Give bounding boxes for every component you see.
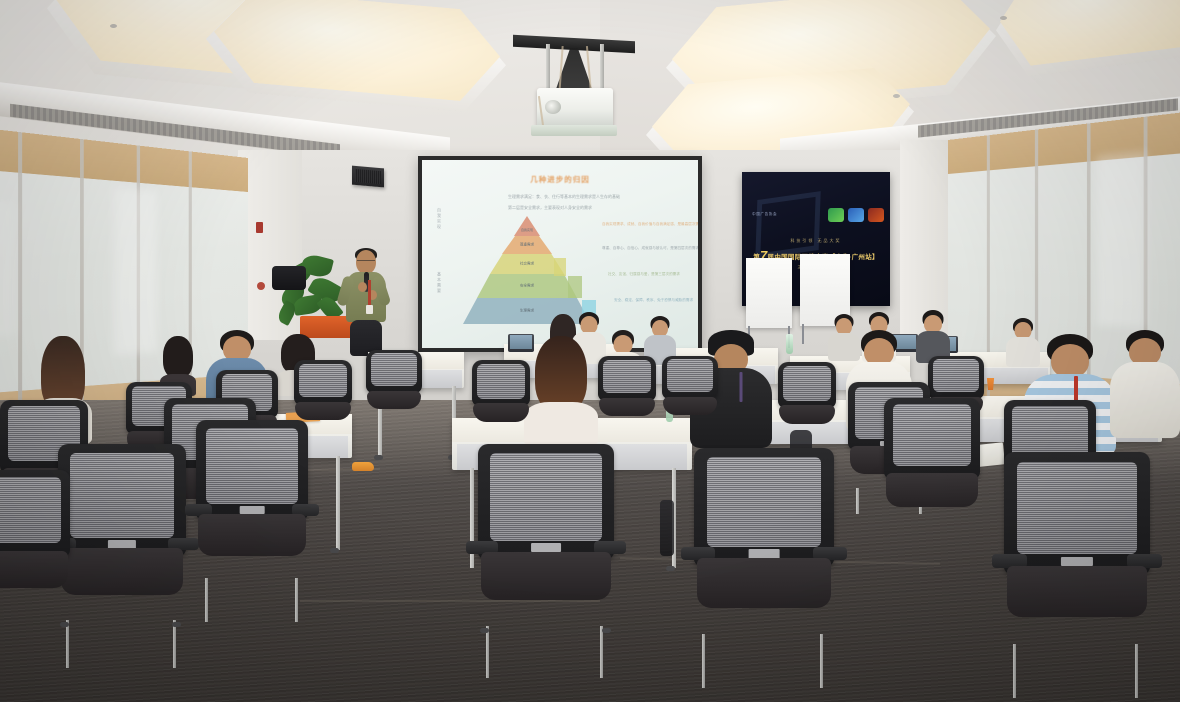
chair-mesh (783, 366, 831, 401)
chair-backrest (884, 398, 980, 479)
pyramid-connector-3 (554, 258, 566, 276)
presenter (338, 250, 394, 362)
chair-seat (0, 551, 68, 587)
attendee-torso (524, 402, 598, 446)
pyramid-tier-2-label: 尊重需求 (520, 243, 534, 248)
glass-reflection (0, 202, 15, 337)
chair-backrest (598, 356, 656, 401)
chair (472, 360, 530, 434)
slide-note-1: 自我实现需求、成就、自我价值与自我满足感，是最高层次需求 (602, 222, 698, 227)
pyramid-tier-5-label: 生理需求 (520, 309, 534, 314)
chair-leg (66, 620, 69, 668)
chair (694, 448, 834, 638)
chair-leg (1135, 644, 1138, 698)
pyramid-connector-4 (568, 276, 582, 298)
chair-backrest (0, 470, 70, 557)
slide-note-2: 尊重、自尊心、自信心、成就感与被认可，是第四层次的需求 (602, 246, 698, 251)
chair-seat (779, 405, 835, 424)
fire-alarm-icon (256, 222, 263, 233)
chair-seat (61, 548, 184, 595)
attendee-torso (1110, 362, 1180, 438)
chair-leg (205, 578, 208, 622)
presenter-hand-left (358, 282, 367, 292)
attendee-woman-ponytail (524, 336, 598, 446)
speaker-grill (355, 169, 381, 184)
pyramid-tier-4-label: 安全需求 (520, 284, 534, 289)
chair (598, 356, 656, 428)
lanyard (368, 280, 371, 306)
projector-drop-rod (546, 44, 550, 94)
chair-leg (1013, 644, 1016, 698)
slide-header-line: 第二层是安全需求，主要表现对人身安全的需求 (508, 205, 688, 211)
eyeglasses-icon (357, 260, 375, 264)
chair (0, 470, 70, 610)
chair-seat (481, 552, 612, 600)
chair (196, 420, 308, 582)
flipchart-leg (802, 324, 804, 344)
slide-title: 几种进步的归因 (422, 174, 698, 185)
projector-base-plate (531, 125, 617, 136)
glass-reflection (1096, 152, 1146, 328)
chair-leg (295, 578, 298, 622)
orange-sneaker (352, 462, 374, 471)
pyramid-tier-2: 尊重需求 (502, 236, 552, 254)
chair-mesh (933, 359, 979, 392)
slide-header-lines: 生理需求满足：食、衣、住行等基本的生理需求是人生存的基础 第二层是安全需求，主要… (508, 194, 688, 216)
sprinkler-head (110, 24, 117, 28)
name-badge (366, 305, 373, 314)
chair (884, 398, 980, 528)
chair (662, 356, 718, 426)
chair-caster (172, 622, 181, 627)
desk-caster (666, 566, 675, 571)
chair-backrest (58, 444, 186, 556)
chair-seat (697, 558, 831, 607)
chair-mesh (707, 457, 822, 547)
pyramid-tier-4: 安全需求 (477, 274, 577, 298)
chair-seat (663, 397, 717, 415)
sponsor-logo-green-icon (828, 208, 844, 222)
training-room-photo: 几种进步的归因 自我实现 基本需要 生理需求满足：食、衣、住行等基本的生理需求是… (0, 0, 1180, 702)
umbrella (660, 500, 674, 556)
chair (58, 444, 186, 624)
slide-axis-top-label: 自我实现 (436, 208, 442, 230)
glass-reflection (114, 187, 157, 354)
chair (478, 444, 614, 630)
chair-mesh (206, 428, 298, 504)
chair-mesh (893, 404, 972, 465)
desk-caster (374, 455, 383, 460)
attendee-hair (535, 336, 587, 412)
chair-backrest (928, 356, 984, 399)
chair-backrest (472, 360, 530, 406)
chair-mesh (70, 453, 175, 538)
chair-brand-label (1061, 557, 1093, 567)
chair-mesh (603, 360, 651, 394)
projector-lens-icon (545, 100, 561, 114)
chair (366, 350, 422, 420)
sponsor-logo-blue-icon (848, 208, 864, 222)
chair-caster (480, 628, 489, 633)
chair-mesh (0, 477, 61, 543)
glass-mullion (18, 132, 22, 446)
lanyard (739, 372, 742, 402)
chair-seat (599, 398, 655, 417)
attendee-man-right-edge (1110, 330, 1180, 440)
sprinkler-head (1000, 16, 1007, 20)
slide-header-line: 生理需求满足：食、衣、住行等基本的生理需求是人生存的基础 (508, 194, 688, 200)
bag (272, 266, 306, 290)
chair-seat (1007, 566, 1147, 617)
chair-backrest (662, 356, 718, 399)
water-bottle (786, 334, 793, 354)
banner-subline: 科技引领 无品大奖 (742, 238, 890, 244)
desk-leg (336, 456, 340, 550)
chair-caster (60, 622, 69, 627)
pyramid-tier-3-label: 社交需求 (520, 262, 534, 267)
sponsor-logo-red-icon (868, 208, 884, 222)
chair-leg (856, 488, 859, 514)
chair-mesh (490, 453, 602, 541)
chair-backrest (366, 350, 422, 393)
attendee-hair (163, 336, 193, 378)
banner-small-text: 中国广告协会 (752, 212, 777, 217)
attendee-head (1051, 344, 1089, 378)
slide-axis-bottom-label: 基本需要 (436, 272, 442, 294)
pyramid-tier-1-label: 自我实现 (521, 228, 533, 232)
chair-leg (820, 634, 823, 688)
chair (1004, 452, 1150, 648)
fire-alarm-light-icon (257, 282, 265, 290)
chair-seat (198, 514, 306, 556)
chair-mesh (667, 359, 713, 392)
pyramid-tier-3: 社交需求 (490, 254, 564, 274)
flipchart-easel-left (746, 258, 792, 328)
chair-leg (600, 626, 603, 678)
chair-seat (295, 402, 351, 421)
pyramid-tier-1: 自我实现 (514, 216, 540, 236)
chair-backrest (196, 420, 308, 520)
chair-seat (367, 391, 421, 409)
chair-backrest (294, 360, 352, 405)
chair-seat (886, 473, 978, 507)
chair-mesh (371, 353, 417, 386)
chair-mesh (299, 364, 347, 398)
chair-leg (486, 626, 489, 678)
chair-seat (473, 403, 529, 422)
chair-backrest (778, 362, 836, 408)
chair-leg (702, 634, 705, 688)
chair-caster (602, 628, 611, 633)
chair-leg (173, 620, 176, 668)
chair-mesh (477, 364, 525, 399)
desk-caster (330, 548, 339, 553)
lanyard-red (1074, 376, 1078, 402)
sprinkler-head (893, 94, 900, 98)
projector-drop-rod (600, 44, 604, 94)
chair (778, 362, 836, 436)
slide-note-3: 社交、友谊、归属感与爱，是第三层次的需求 (608, 272, 680, 277)
wall-speaker-icon (352, 166, 384, 188)
chair-mesh (1017, 462, 1137, 554)
slide-note-4: 安全、稳定、保障、秩序、免于恐惧与威胁的需求 (614, 298, 693, 303)
